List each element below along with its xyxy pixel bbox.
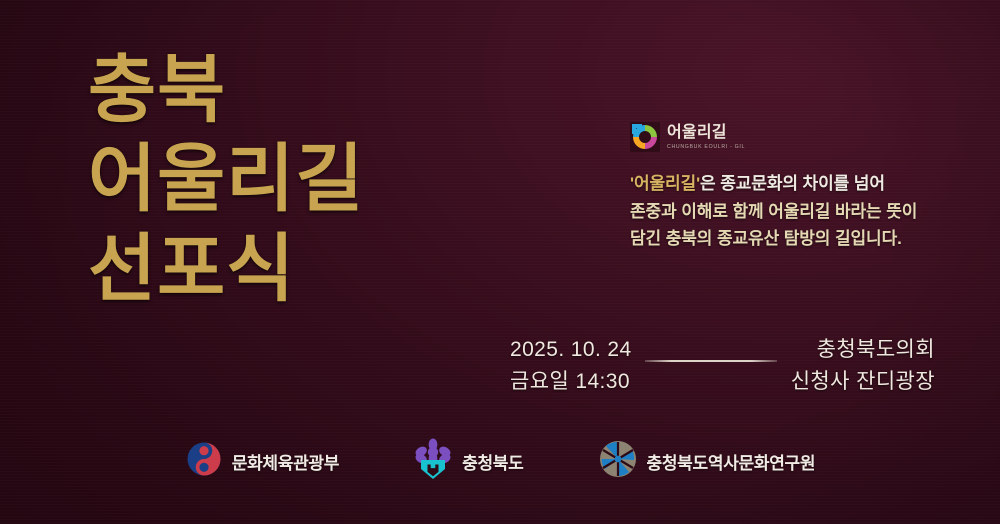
sponsor-mcst: 문화체육관광부 [185,440,339,483]
brand-name: 어울리길 [667,124,745,142]
description-line-1: '어울리길'은 종교문화의 차이를 넘어 [630,170,917,198]
event-venue-line-2: 신청사 잔디광장 [791,366,935,398]
description-line-2: 존중과 이해로 함께 어울리길 바라는 뜻이 [630,198,917,226]
event-venue: 충청북도의회 신청사 잔디광장 [791,334,935,397]
event-date: 2025. 10. 24 [510,334,632,366]
sponsor-label-chungcheongbukdo: 충청북도 [462,449,523,474]
event-datetime: 2025. 10. 24 금요일 14:30 [510,334,632,397]
chungcheongbuk-do-flower-logo-icon [413,438,453,485]
event-venue-line-1: 충청북도의회 [791,334,935,366]
description-block: '어울리길'은 종교문화의 차이를 넘어 존중과 이해로 함께 어울리길 바라는… [630,170,917,253]
info-divider [645,360,777,362]
title-line-1: 충북 [88,52,364,127]
chungbuk-history-culture-institute-logo-icon [598,439,638,484]
event-poster: 충북 어울리길 선포식 어울리길 CHUN [0,0,1000,524]
title-line-2: 어울리길 [88,141,364,216]
poster-title: 충북 어울리길 선포식 [88,52,364,306]
title-line-3: 선포식 [88,231,364,306]
brand-romanization: CHUNGBUK EOULRI - GIL [667,144,745,150]
sponsor-chungcheongbukdo: 충청북도 [413,438,523,485]
event-info: 2025. 10. 24 금요일 14:30 충청북도의회 신청사 잔디광장 [510,334,935,397]
event-day-time: 금요일 14:30 [510,366,632,398]
description-line-1-rest: 은 종교문화의 차이를 넘어 [700,174,885,193]
sponsor-row: 문화체육관광부 [0,438,1000,485]
sponsor-history-institute: 충청북도역사문화연구원 [598,439,816,484]
brand-logo: 어울리길 CHUNGBUK EOULRI - GIL [630,122,745,152]
sponsor-label-history-institute: 충청북도역사문화연구원 [647,449,816,474]
taegeuk-logo-icon [185,440,223,483]
description-line-3: 담긴 충북의 종교유산 탐방의 길입니다. [630,225,917,253]
eoulri-gil-ring-logo-icon [630,122,660,152]
description-highlight: '어울리길' [630,174,700,193]
sponsor-label-mcst: 문화체육관광부 [232,449,339,474]
